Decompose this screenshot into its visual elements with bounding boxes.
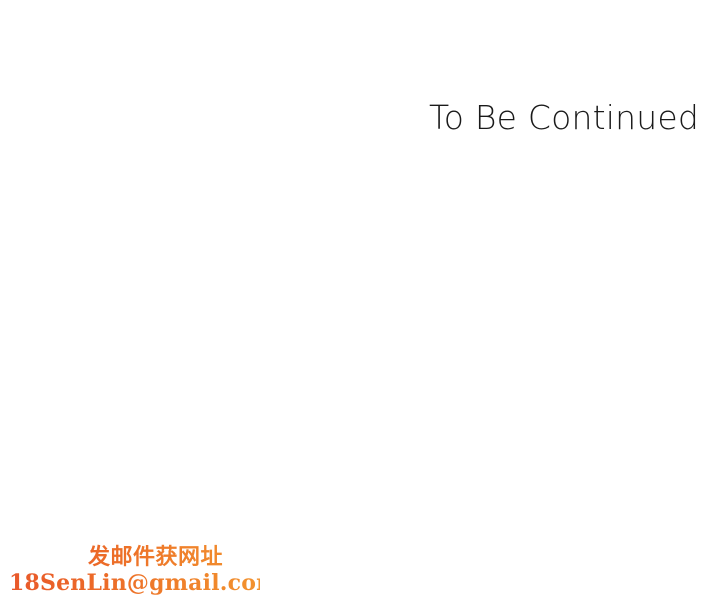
watermark-email-text: 18SenLin@gmail.com xyxy=(0,570,260,596)
watermark-cta-text: 发邮件获网址 xyxy=(0,544,260,570)
to-be-continued-text: To Be Continued xyxy=(0,96,699,140)
page-canvas: To Be Continued 发邮件获网址 18SenLin@gmail.co… xyxy=(0,0,720,600)
contact-watermark: 发邮件获网址 18SenLin@gmail.com xyxy=(0,544,260,596)
